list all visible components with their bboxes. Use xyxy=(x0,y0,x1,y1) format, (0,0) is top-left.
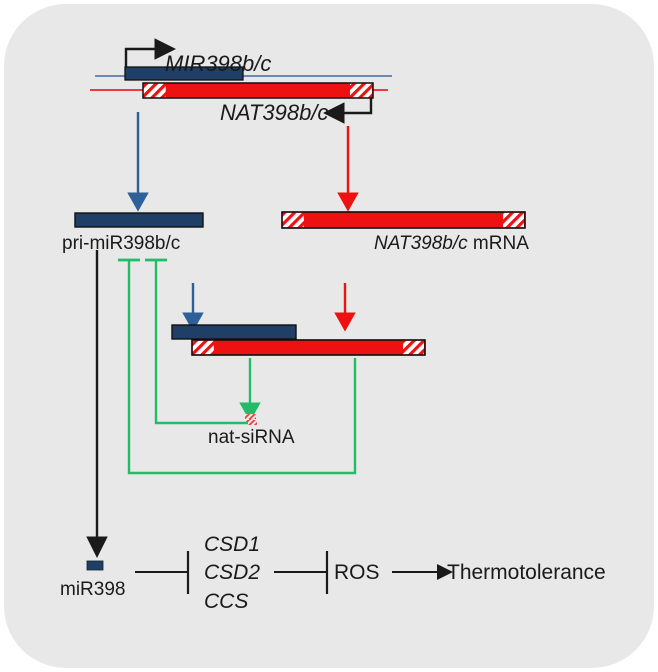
mir398-inhibits-targets xyxy=(135,551,188,594)
nat-mrna-label: NAT398b/c mRNA xyxy=(374,234,529,253)
pri-mirna-bar xyxy=(75,213,203,227)
mir-gene-label: MIR398b/c xyxy=(165,53,271,75)
nat-mrna-left-hatch xyxy=(283,213,304,227)
target-csd2-label: CSD2 xyxy=(204,562,260,583)
duplex-right-hatch xyxy=(403,341,424,354)
nat-gene-right-hatch xyxy=(350,84,372,98)
duplex-left-hatch xyxy=(193,341,214,354)
thermotolerance-label: Thermotolerance xyxy=(447,562,606,583)
mir398-symbol xyxy=(87,561,103,570)
nat-mrna-right-hatch xyxy=(503,213,524,227)
target-csd1-label: CSD1 xyxy=(204,534,260,555)
ros-label: ROS xyxy=(334,562,380,583)
nat-gene-label: NAT398b/c xyxy=(220,102,328,124)
targets-inhibit-ros xyxy=(274,551,327,594)
nat-gene-left-hatch xyxy=(144,84,166,98)
nat-sirna-label: nat-siRNA xyxy=(208,428,295,447)
nat-mrna-label-gene: NAT398b/c xyxy=(374,233,468,254)
mir398-label: miR398 xyxy=(60,580,125,599)
nat-gene-box xyxy=(143,83,373,98)
duplex-sense-bar xyxy=(172,325,296,339)
nat-mrna-label-suffix: mRNA xyxy=(468,233,529,254)
pri-mirna-label: pri-miR398b/c xyxy=(62,234,180,253)
nat-mrna-bar xyxy=(282,212,525,228)
rna-duplex-group xyxy=(172,325,425,355)
figure-canvas: MIR398b/c NAT398b/c pri-miR398b/c NAT398… xyxy=(0,0,658,672)
target-ccs-label: CCS xyxy=(204,591,248,612)
